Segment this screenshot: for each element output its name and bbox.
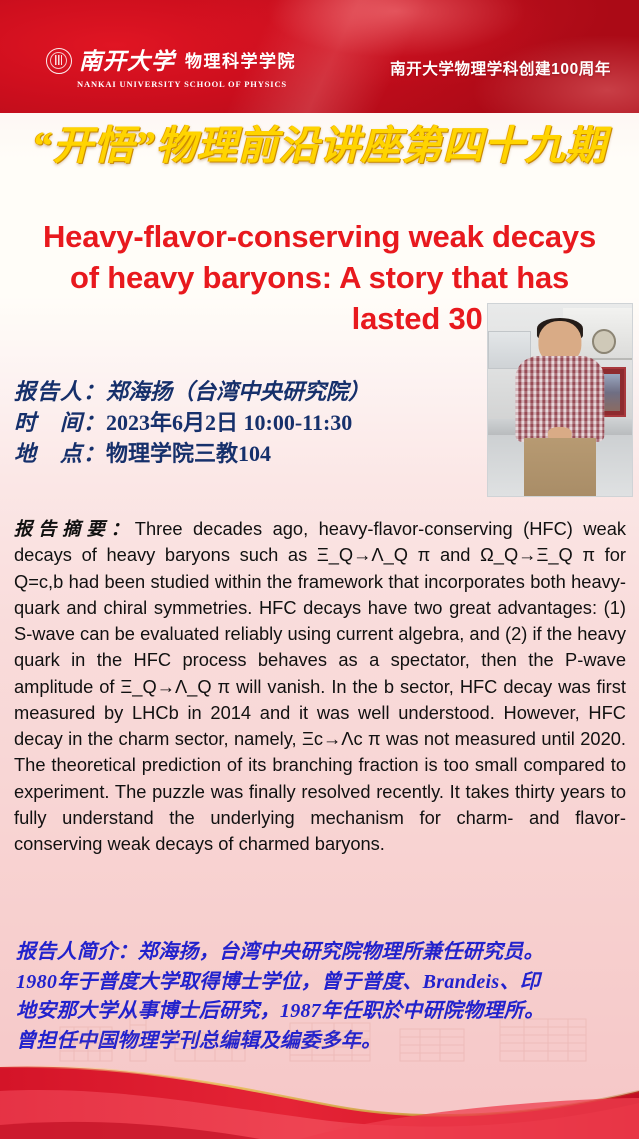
school-name-cn: 物理科学学院: [185, 53, 296, 70]
bio-line-2: 1980年于普度大学取得博士学位，曾于普度、Brandeis、印: [16, 968, 628, 998]
time-label: 时 间：: [14, 410, 106, 435]
speaker-value: 郑海扬（台湾中央研究院）: [106, 379, 370, 404]
speaker-photo: [487, 303, 633, 497]
place-row: 地 点：物理学院三教104: [14, 438, 370, 469]
talk-title-line-1: Heavy-flavor-conserving weak decays: [10, 216, 629, 257]
photo-wall-clock: [592, 329, 616, 354]
speaker-row: 报告人：郑海扬（台湾中央研究院）: [14, 376, 370, 407]
series-title: “开悟”物理前沿讲座第四十九期: [0, 124, 639, 169]
event-info: 报告人：郑海扬（台湾中央研究院） 时 间：2023年6月2日 10:00-11:…: [14, 376, 370, 470]
photo-person-trousers: [524, 438, 596, 496]
abstract-section: 报告摘要：Three decades ago, heavy-flavor-con…: [14, 516, 626, 857]
speaker-label: 报告人：: [14, 379, 106, 404]
anniversary-text: 南开大学物理学科创建100周年: [390, 57, 611, 79]
logo-row: 南开大学 物理科学学院: [46, 48, 296, 74]
university-seal-icon: [46, 48, 72, 74]
footer-ribbon: [0, 1029, 639, 1139]
university-name-cn: 南开大学: [79, 50, 175, 73]
place-value: 物理学院三教104: [106, 441, 271, 466]
abstract-body: Three decades ago, heavy-flavor-conservi…: [14, 518, 626, 854]
abstract-label: 报告摘要：: [14, 519, 135, 539]
header-banner: 南开大学 物理科学学院 NANKAI UNIVERSITY SCHOOL OF …: [0, 0, 639, 113]
time-row: 时 间：2023年6月2日 10:00-11:30: [14, 407, 370, 438]
talk-title-line-2: of heavy baryons: A story that has: [10, 257, 629, 298]
place-label: 地 点：: [14, 441, 106, 466]
seminar-poster: 南开大学 物理科学学院 NANKAI UNIVERSITY SCHOOL OF …: [0, 0, 639, 1139]
time-value: 2023年6月2日 10:00-11:30: [106, 410, 352, 435]
university-name-en: NANKAI UNIVERSITY SCHOOL OF PHYSICS: [77, 79, 287, 89]
bio-line-1: 报告人简介：郑海扬，台湾中央研究院物理所兼任研究员。: [16, 938, 628, 968]
university-logo: 南开大学 物理科学学院 NANKAI UNIVERSITY SCHOOL OF …: [46, 48, 296, 89]
